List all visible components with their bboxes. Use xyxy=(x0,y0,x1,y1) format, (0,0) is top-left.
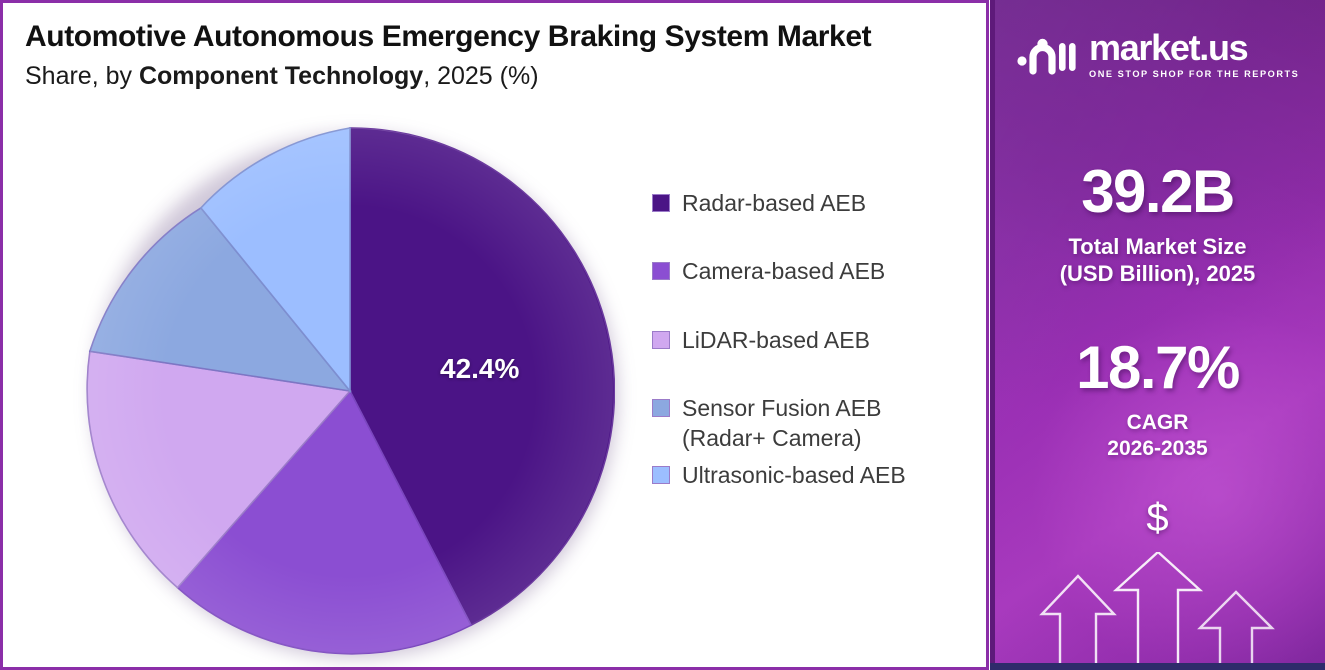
brand-name: market.us xyxy=(1089,30,1299,66)
panel-left-edge xyxy=(990,0,995,670)
pie-slice-label-radar: 42.4% xyxy=(440,353,519,385)
stats-panel: market.us ONE STOP SHOP FOR THE REPORTS … xyxy=(990,0,1325,670)
legend-item-lidar-based-aeb[interactable]: LiDAR-based AEB xyxy=(652,325,982,355)
legend-swatch-icon xyxy=(652,399,670,417)
subtitle-lead: Share, by xyxy=(25,62,139,90)
pie-sheen-overlay xyxy=(87,128,613,654)
brand-tagline: ONE STOP SHOP FOR THE REPORTS xyxy=(1089,70,1299,79)
legend-swatch-icon xyxy=(652,262,670,280)
chart-panel: Automotive Autonomous Emergency Braking … xyxy=(0,0,989,670)
legend-label-second-line: (Radar+ Camera) xyxy=(682,423,881,453)
legend-item-radar-based-aeb[interactable]: Radar-based AEB xyxy=(652,188,982,218)
stat-caption-line1: CAGR xyxy=(990,410,1325,436)
title-block: Automotive Autonomous Emergency Braking … xyxy=(25,19,985,91)
market-us-logo-icon xyxy=(1016,31,1078,79)
brand-logo[interactable]: market.us ONE STOP SHOP FOR THE REPORTS xyxy=(1016,30,1299,79)
legend-item-ultrasonic-based-aeb[interactable]: Ultrasonic-based AEB xyxy=(652,460,982,490)
stat-caption-line1: Total Market Size xyxy=(990,234,1325,261)
legend-label: Ultrasonic-based AEB xyxy=(682,460,906,490)
arrow-center-icon xyxy=(1116,552,1200,670)
infographic-root: Automotive Autonomous Emergency Braking … xyxy=(0,0,1325,670)
stat-caption-line2: 2026-2035 xyxy=(990,436,1325,462)
legend-swatch-icon xyxy=(652,331,670,349)
page-title: Automotive Autonomous Emergency Braking … xyxy=(25,19,985,54)
chart-subtitle: Share, by Component Technology, 2025 (%) xyxy=(25,61,985,91)
dollar-icon: $ xyxy=(990,498,1325,538)
legend-swatch-icon xyxy=(652,194,670,212)
legend: Radar-based AEB Camera-based AEB LiDAR-b… xyxy=(652,188,982,528)
legend-label: Camera-based AEB xyxy=(682,256,885,286)
arrow-left-icon xyxy=(1042,576,1114,670)
subtitle-tail: , 2025 (%) xyxy=(423,62,538,90)
panel-bottom-edge xyxy=(990,663,1325,670)
legend-swatch-icon xyxy=(652,466,670,484)
legend-item-sensor-fusion-aeb[interactable]: Sensor Fusion AEB(Radar+ Camera) xyxy=(652,393,982,454)
legend-item-camera-based-aeb[interactable]: Camera-based AEB xyxy=(652,256,982,286)
brand-text-block: market.us ONE STOP SHOP FOR THE REPORTS xyxy=(1089,30,1299,79)
stat-caption: Total Market Size (USD Billion), 2025 xyxy=(990,234,1325,288)
legend-label-group: Sensor Fusion AEB(Radar+ Camera) xyxy=(682,393,881,454)
subtitle-emphasis: Component Technology xyxy=(139,62,423,90)
legend-label: Radar-based AEB xyxy=(682,188,866,218)
legend-label: Sensor Fusion AEB xyxy=(682,395,881,421)
growth-arrows-icon xyxy=(1038,552,1278,670)
pie-slices xyxy=(85,125,615,657)
stat-cagr: 18.7% CAGR 2026-2035 xyxy=(990,338,1325,461)
pie-chart: 42.4% xyxy=(85,125,615,657)
stat-caption: CAGR 2026-2035 xyxy=(990,410,1325,461)
stat-market-size: 39.2B Total Market Size (USD Billion), 2… xyxy=(990,162,1325,288)
stat-caption-line2: (USD Billion), 2025 xyxy=(990,261,1325,288)
stat-value: 39.2B xyxy=(990,162,1325,222)
arrow-right-icon xyxy=(1200,592,1272,670)
legend-label: LiDAR-based AEB xyxy=(682,325,870,355)
stat-value: 18.7% xyxy=(990,338,1325,398)
